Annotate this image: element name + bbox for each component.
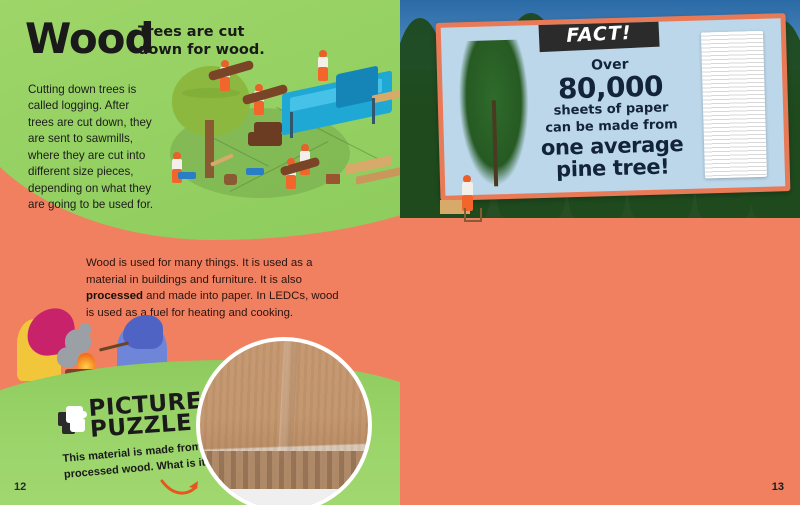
left-page: Wood Trees are cut down for wood. Cuttin… xyxy=(0,0,400,505)
fact-line-number: 80,000 xyxy=(530,71,691,105)
book-spread: Wood Trees are cut down for wood. Cuttin… xyxy=(0,0,800,505)
wood-block-icon xyxy=(326,174,340,184)
intro-paragraph: Cutting down trees is called logging. Af… xyxy=(28,82,156,214)
page-number-left: 12 xyxy=(14,481,26,493)
puzzle-piece-icon xyxy=(58,404,88,434)
tree-trunk-icon xyxy=(205,120,214,178)
chainsaw-icon xyxy=(178,172,196,179)
cardboard-seam xyxy=(278,341,298,459)
worker-figure xyxy=(318,50,328,80)
photo-white-base xyxy=(200,489,368,505)
cardboard-flutes xyxy=(200,451,368,491)
log-pile xyxy=(248,132,282,146)
pine-tree-photo xyxy=(457,39,531,187)
fact-box: FACT! Over 80,000 sheets of paper can be… xyxy=(436,13,791,201)
page-title: Wood xyxy=(25,18,154,60)
picture-puzzle-title: PICTURE PUZZLE xyxy=(88,391,204,441)
picture-puzzle-photo xyxy=(196,337,372,505)
table-leg xyxy=(372,98,375,124)
uses-bold-word: processed xyxy=(86,290,143,302)
stool-icon xyxy=(464,208,482,222)
page-number-right: 13 xyxy=(772,481,784,493)
right-page: FACT! Over 80,000 sheets of paper can be… xyxy=(400,0,800,505)
fact-banner-label: FACT! xyxy=(538,17,659,52)
carpenter-illustration xyxy=(440,178,482,220)
curved-arrow-icon xyxy=(160,475,200,499)
table-leg xyxy=(290,112,293,138)
paper-stack-photo xyxy=(701,31,767,179)
tree-stump-icon xyxy=(224,174,237,185)
fact-text-block: Over 80,000 sheets of paper can be made … xyxy=(530,55,693,181)
fact-banner: FACT! xyxy=(538,17,659,52)
chainsaw-icon xyxy=(246,168,264,175)
carpenter-body xyxy=(462,182,473,196)
log-pile xyxy=(254,122,282,134)
woman-blue-shawl xyxy=(123,315,163,349)
cooking-pot-icon xyxy=(79,323,91,335)
logging-sawmill-illustration xyxy=(150,48,400,218)
fact-line-big2: pine tree! xyxy=(532,155,693,182)
uses-text-part1: Wood is used for many things. It is used… xyxy=(86,257,312,286)
